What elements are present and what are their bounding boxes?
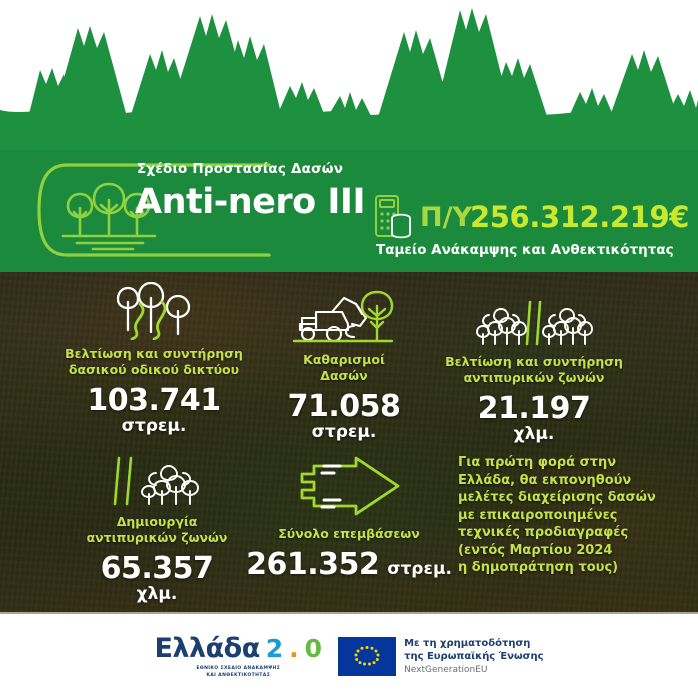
- greece-logo-dot: .: [289, 634, 299, 664]
- stat-caption-roads: Βελτίωση και συντήρησηδασικού οδικού δικ…: [44, 346, 264, 378]
- greece-2-0-logo: Ελλάδα 2 . 0 ΕΘΝΙΚΟ ΣΧΕΔΙΟ ΑΝΑΚΑΜΨΗΣΚΑΙ …: [154, 634, 322, 679]
- stat-card-total: Σύνολο επεμβάσεων 261.352 στρεμ.: [230, 454, 468, 581]
- stat-value-zones-maintain: 21.197: [424, 393, 644, 425]
- note-line-1: Για πρώτη φορά στην: [458, 454, 684, 472]
- stat-card-zones-maintain: Βελτίωση και συντήρησηαντιπυρικών ζωνών …: [424, 290, 644, 444]
- stat-caption-zones-create: Δημιουργίααντιπυρικών ζωνών: [62, 514, 252, 546]
- forest-photo-background: Βελτίωση και συντήρησηδασικού οδικού δικ…: [0, 272, 698, 612]
- stat-card-zones-create: Δημιουργίααντιπυρικών ζωνών 65.357 χλμ.: [62, 450, 252, 604]
- note-line-4: με επικαιροποιημένες: [458, 507, 684, 525]
- eu-ngeu-label: NextGenerationEU: [404, 664, 543, 677]
- calculator-coins-icon: [374, 194, 412, 239]
- note-line-2: Ελλάδα, θα εκπονηθούν: [458, 472, 684, 490]
- budget-amount: 256.312.219€: [470, 200, 689, 234]
- eu-funding-line-1: Με τη χρηματοδότηση: [404, 637, 543, 650]
- note-line-3: μελέτες διαχείρισης δασών: [458, 489, 684, 507]
- excavator-tree-icon: [258, 288, 430, 346]
- eu-funding-block: Με τη χρηματοδότηση της Ευρωπαϊκής Ένωση…: [338, 637, 543, 677]
- stat-card-cleaning: ΚαθαρισμοίΔασών 71.058 στρεμ.: [258, 288, 430, 442]
- eu-flag-icon: [338, 637, 396, 676]
- firebreak-two-groves-icon: [424, 290, 644, 348]
- stat-unit-cleaning: στρεμ.: [258, 423, 430, 442]
- stat-unit-zones-create: χλμ.: [62, 585, 252, 604]
- footer-divider: [0, 612, 698, 614]
- firebreak-grove-icon: [62, 450, 252, 508]
- stat-unit-roads: στρεμ.: [44, 417, 264, 436]
- plan-subtitle: Σχέδιο Προστασίας Δασών: [137, 161, 343, 177]
- forest-silhouette-banner: [0, 0, 698, 152]
- note-line-6: (εντός Μαρτίου 2024: [458, 542, 684, 560]
- brand-title: Anti-nero III: [135, 180, 365, 224]
- note-block: Για πρώτη φορά στην Ελλάδα, θα εκπονηθού…: [458, 454, 684, 577]
- greece-logo-subtitle: ΕΘΝΙΚΟ ΣΧΕΔΙΟ ΑΝΑΚΑΜΨΗΣΚΑΙ ΑΝΘΕΚΤΙΚΟΤΗΤΑ…: [196, 666, 280, 679]
- stat-unit-zones-maintain: χλμ.: [424, 425, 644, 444]
- note-line-5: τεχνικές προδιαγραφές: [458, 524, 684, 542]
- stat-caption-cleaning: ΚαθαρισμοίΔασών: [258, 352, 430, 384]
- stat-card-roads: Βελτίωση και συντήρησηδασικού οδικού δικ…: [44, 282, 264, 436]
- greece-logo-zero: 0: [305, 634, 322, 664]
- infographic-page: Σχέδιο Προστασίας Δασών Anti-nero III: [0, 0, 698, 700]
- note-line-7: η δημοπράτηση τους): [458, 559, 684, 577]
- stat-value-roads: 103.741: [44, 385, 264, 417]
- stat-value-zones-create: 65.357: [62, 553, 252, 585]
- pine-forest-silhouette-icon: [0, 0, 698, 152]
- eu-funding-line-2: της Ευρωπαϊκής Ένωσης: [404, 650, 543, 663]
- budget-label: Π/Υ: [420, 202, 472, 233]
- greece-logo-word: Ελλάδα: [154, 634, 259, 664]
- stat-unit-total: στρεμ.: [387, 560, 452, 579]
- footer: Ελλάδα 2 . 0 ΕΘΝΙΚΟ ΣΧΕΔΙΟ ΑΝΑΚΑΜΨΗΣΚΑΙ …: [0, 612, 698, 700]
- stat-caption-total: Σύνολο επεμβάσεων: [230, 526, 468, 542]
- stat-value-total: 261.352: [246, 549, 379, 581]
- stat-value-cleaning: 71.058: [258, 391, 430, 423]
- arrow-right-icon: [230, 454, 468, 520]
- fund-label: Ταμείο Ανάκαμψης και Ανθεκτικότητας: [376, 242, 674, 258]
- trees-forest-road-icon: [44, 282, 264, 340]
- header-bar: Σχέδιο Προστασίας Δασών Anti-nero III: [0, 150, 698, 272]
- stat-caption-zones-maintain: Βελτίωση και συντήρησηαντιπυρικών ζωνών: [424, 354, 644, 386]
- greece-logo-two: 2: [266, 634, 283, 664]
